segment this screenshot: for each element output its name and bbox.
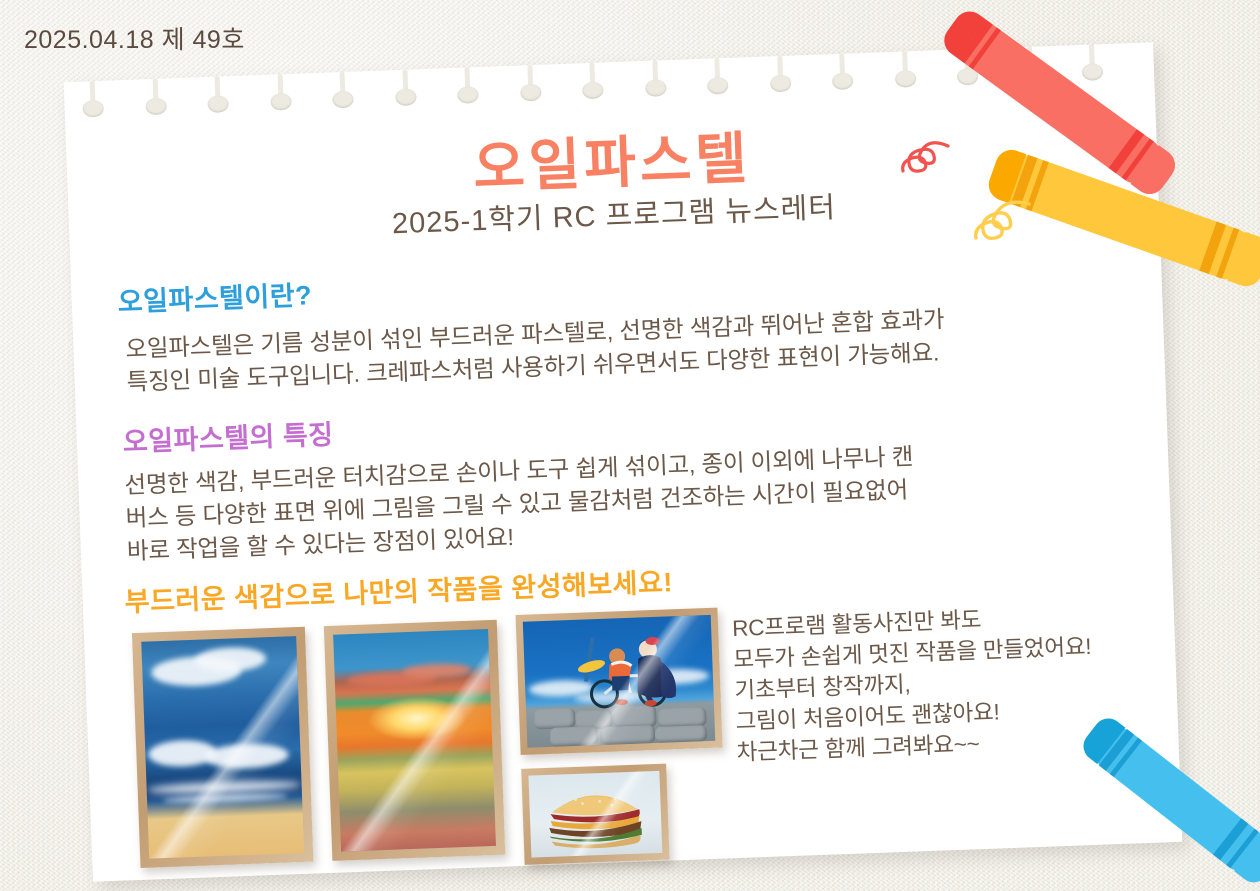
spiral-hole [894, 51, 916, 88]
artwork-burger-canvas [528, 771, 662, 858]
issue-date: 2025.04.18 제 49호 [24, 20, 245, 56]
spiral-hole [332, 72, 354, 109]
photo-note-body: RC프로램 활동사진만 봐도 모두가 손쉽게 멋진 작품을 만들었어요! 기초부… [732, 600, 1096, 768]
spiral-hole [644, 60, 666, 97]
spiral-hole [519, 65, 541, 102]
burger-illustration [528, 771, 662, 858]
artwork-sunset [324, 620, 505, 861]
spiral-hole [144, 79, 166, 116]
artwork-bicycle-canvas [523, 615, 715, 748]
spiral-hole [394, 69, 416, 106]
spiral-hole [706, 58, 728, 95]
artwork-gallery [124, 604, 713, 875]
spiral-hole [831, 53, 853, 90]
spiral-hole [207, 76, 229, 113]
spiral-hole [456, 67, 478, 104]
section-feature: 오일파스텔의 특징 선명한 색감, 부드러운 터치감으로 손이나 도구 쉽게 섞… [122, 391, 916, 568]
spiral-hole [1081, 44, 1103, 81]
spiral-hole [82, 81, 104, 118]
photo-note: RC프로램 활동사진만 봐도 모두가 손쉽게 멋진 작품을 만들었어요! 기초부… [732, 600, 1096, 768]
spiral-hole [269, 74, 291, 111]
artwork-beach-canvas [141, 636, 304, 859]
spiral-hole [581, 62, 603, 99]
frame-glass-reflection [333, 629, 496, 852]
artwork-burger [521, 764, 669, 865]
artwork-beach [132, 627, 313, 868]
bicycle-figures [523, 615, 715, 748]
spiral-hole [769, 56, 791, 93]
artwork-bicycle [516, 608, 723, 755]
artwork-sunset-canvas [333, 629, 496, 852]
